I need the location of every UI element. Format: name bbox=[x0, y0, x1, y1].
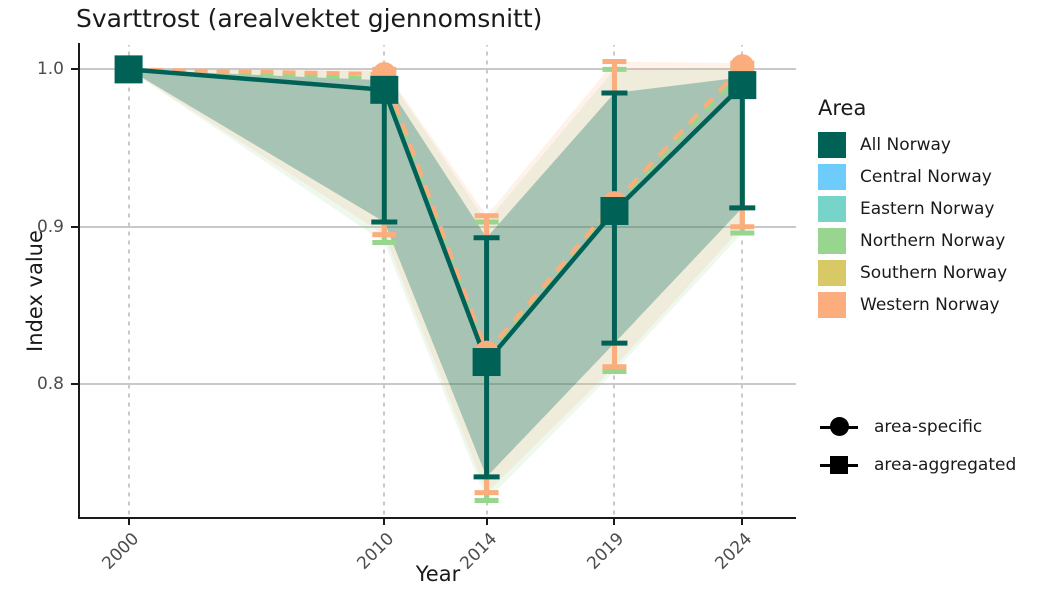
data-point-square[interactable] bbox=[600, 197, 628, 225]
data-layer bbox=[80, 45, 796, 517]
y-tick-label: 1.0 bbox=[28, 59, 64, 79]
x-axis-title: Year bbox=[80, 562, 796, 586]
data-point-square[interactable] bbox=[115, 55, 143, 83]
legend-shape-key bbox=[818, 452, 860, 478]
legend-color-swatch bbox=[818, 260, 846, 286]
y-tick-mark bbox=[71, 226, 78, 228]
legend-area-items: All NorwayCentral NorwayEastern NorwayNo… bbox=[818, 130, 1048, 320]
legend-item-central-norway[interactable]: Central Norway bbox=[818, 162, 1048, 192]
legend-item-label: Eastern Norway bbox=[860, 199, 995, 219]
x-axis-line bbox=[78, 517, 796, 519]
plot-panel bbox=[80, 45, 796, 517]
circle-marker-icon bbox=[830, 417, 849, 436]
data-point-square[interactable] bbox=[370, 76, 398, 104]
legend-shape-label: area-specific bbox=[874, 417, 982, 437]
legend-item-label: Central Norway bbox=[860, 167, 992, 187]
legend-shape-label: area-aggregated bbox=[874, 455, 1016, 475]
y-tick-mark bbox=[71, 383, 78, 385]
data-point-square[interactable] bbox=[473, 348, 501, 376]
x-tick-mark bbox=[128, 518, 130, 525]
square-marker-icon bbox=[830, 456, 848, 474]
y-tick-label: 0.8 bbox=[28, 374, 64, 394]
x-tick-mark bbox=[741, 518, 743, 525]
legend-item-label: Northern Norway bbox=[860, 231, 1005, 251]
legend-item-label: Southern Norway bbox=[860, 263, 1007, 283]
y-tick-mark bbox=[71, 68, 78, 70]
legend-area-title: Area bbox=[818, 96, 1048, 120]
legend-color-swatch bbox=[818, 196, 846, 222]
legend-color-swatch bbox=[818, 132, 846, 158]
legend-shape: area-specificarea-aggregated bbox=[818, 408, 1048, 484]
y-axis-title: Index value bbox=[23, 55, 49, 527]
legend-color-swatch bbox=[818, 292, 846, 318]
legend-item-northern-norway[interactable]: Northern Norway bbox=[818, 226, 1048, 256]
y-axis-line bbox=[78, 43, 80, 519]
legend-item-label: Western Norway bbox=[860, 295, 1000, 315]
x-tick-mark bbox=[613, 518, 615, 525]
legend-item-all-norway[interactable]: All Norway bbox=[818, 130, 1048, 160]
legend-color-swatch bbox=[818, 228, 846, 254]
data-point-square[interactable] bbox=[728, 71, 756, 99]
page-title: Svarttrost (arealvektet gjennomsnitt) bbox=[76, 4, 542, 33]
legend-item-eastern-norway[interactable]: Eastern Norway bbox=[818, 194, 1048, 224]
chart-root: Svarttrost (arealvektet gjennomsnitt) In… bbox=[0, 0, 1050, 600]
legend-item-southern-norway[interactable]: Southern Norway bbox=[818, 258, 1048, 288]
legend-shape-key bbox=[818, 414, 860, 440]
legend-area: Area All NorwayCentral NorwayEastern Nor… bbox=[818, 96, 1048, 322]
y-tick-label: 0.9 bbox=[28, 217, 64, 237]
legend-item-label: All Norway bbox=[860, 135, 951, 155]
legend-color-swatch bbox=[818, 164, 846, 190]
x-tick-mark bbox=[383, 518, 385, 525]
legend-shape-item-square[interactable]: area-aggregated bbox=[818, 446, 1048, 484]
legend-item-western-norway[interactable]: Western Norway bbox=[818, 290, 1048, 320]
legend-shape-item-circle[interactable]: area-specific bbox=[818, 408, 1048, 446]
x-tick-mark bbox=[486, 518, 488, 525]
